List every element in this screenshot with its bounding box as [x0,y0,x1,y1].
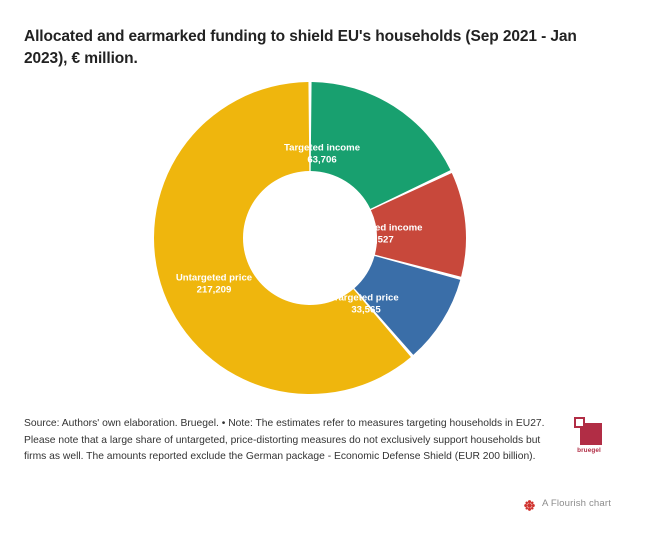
slice-label-name: Targeted income [284,143,360,154]
bruegel-logo-icon [574,416,604,446]
bruegel-logo: bruegel [567,416,611,462]
slice-label-name: Untargeted income [336,223,423,234]
donut-svg: Targeted income63,706Untargeted income39… [154,82,466,394]
flourish-credit[interactable]: A Flourish chart [524,498,611,509]
donut-slices [154,82,466,394]
slice-label-value: 217,209 [197,285,232,296]
slice-label-value: 39,527 [364,235,393,246]
footer: Source: Authors' own elaboration. Bruege… [24,416,552,466]
slice-label-name: Untargeted price [176,273,252,284]
flourish-flower-icon [524,498,535,509]
slice-label-name: Targeted price [333,293,398,304]
flourish-credit-label: A Flourish chart [542,498,611,509]
chart-page: Allocated and earmarked funding to shiel… [0,0,648,537]
slice-label-value: 33,565 [351,305,381,316]
donut-chart: Targeted income63,706Untargeted income39… [154,82,466,394]
source-note: Source: Authors' own elaboration. Bruege… [24,416,552,466]
bruegel-logo-label: bruegel [567,447,611,454]
logo-square-outline [574,417,585,428]
slice-label-value: 63,706 [307,155,336,166]
page-title: Allocated and earmarked funding to shiel… [24,26,604,70]
